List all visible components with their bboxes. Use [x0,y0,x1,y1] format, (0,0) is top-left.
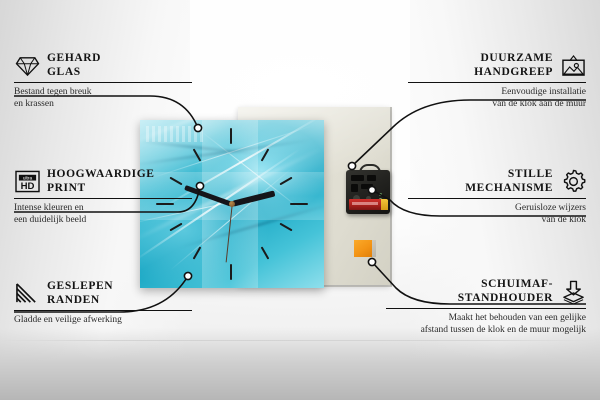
feature-desc-line2: een duidelijk beeld [14,215,192,227]
feature-duurzame-handgreep[interactable]: DUURZAME HANDGREEP Eenvoudige installati… [408,52,586,111]
gear-icon [560,169,586,195]
diamond-icon [14,53,40,79]
feature-header: STILLE MECHANISME [408,168,586,195]
feature-geslepen-randen[interactable]: GESLEPEN RANDEN Gladde en veilige afwerk… [14,280,192,327]
feature-desc-line1: Geruisloze wijzers [408,203,586,215]
feature-desc-line1: Intense kleuren en [14,203,192,215]
feature-stille-mechanisme[interactable]: STILLE MECHANISME Geruisloze wijzers van… [408,168,586,227]
feature-divider [408,198,586,199]
feature-desc-line1: Eenvoudige installatie [408,87,586,99]
feature-divider [14,310,192,311]
feature-title: DUURZAME HANDGREEP [474,52,553,79]
feature-schuimafstandhouder[interactable]: SCHUIMAF- STANDHOUDER Maakt het behouden… [386,278,586,337]
ultra-hd-icon: ultra HD [14,169,40,195]
feature-title-line2: HANDGREEP [474,66,553,80]
feature-desc-line2: en krassen [14,99,192,111]
feature-title: HOOGWAARDIGE PRINT [47,168,155,195]
feature-title-line2: MECHANISME [465,182,553,196]
feature-desc-line2: van de klok aan de muur [408,99,586,111]
feature-title: GEHARD GLAS [47,52,101,79]
feature-gehard-glas[interactable]: GEHARD GLAS Bestand tegen breuk en krass… [14,52,192,111]
feature-title-line1: DUURZAME [480,52,553,66]
feature-title-line1: GESLEPEN [47,280,113,294]
foam-spacer [354,240,372,257]
feature-title-line2: STANDHOUDER [458,292,553,306]
picture-frame-icon [560,53,586,79]
foam-spacer-icon [560,279,586,305]
feature-desc-line1: Bestand tegen breuk [14,87,192,99]
feature-divider [14,198,192,199]
feature-desc-line1: Maakt het behouden van een gelijke [386,313,586,325]
background-floor [0,328,600,400]
feature-divider [386,308,586,309]
feature-divider [14,82,192,83]
feature-title: SCHUIMAF- STANDHOUDER [458,278,553,305]
feature-title: GESLEPEN RANDEN [47,280,113,307]
feature-desc-line2: van de klok [408,215,586,227]
feature-title-line2: PRINT [47,182,155,196]
feature-title-line2: GLAS [47,66,101,80]
feature-desc-line2: afstand tussen de klok en de muur mogeli… [386,325,586,337]
feature-title-line1: STILLE [508,168,553,182]
feature-title-line1: GEHARD [47,52,101,66]
feature-hoogwaardige-print[interactable]: ultra HD HOOGWAARDIGE PRINT Intense kleu… [14,168,192,227]
feature-title-line1: HOOGWAARDIGE [47,168,155,182]
feature-title-line1: SCHUIMAF- [481,278,553,292]
feature-divider [408,82,586,83]
feature-header: GESLEPEN RANDEN [14,280,192,307]
battery-positive-cap [381,199,388,210]
feature-header: DUURZAME HANDGREEP [408,52,586,79]
infographic-canvas: GEHARD GLAS Bestand tegen breuk en krass… [0,0,600,400]
feature-header: ultra HD HOOGWAARDIGE PRINT [14,168,192,195]
feature-title: STILLE MECHANISME [465,168,553,195]
feature-title-line2: RANDEN [47,294,113,308]
svg-text:HD: HD [20,181,34,192]
feature-desc-line1: Gladde en veilige afwerking [14,315,192,327]
clock-center-cap [229,201,235,207]
feature-header: SCHUIMAF- STANDHOUDER [386,278,586,305]
feature-header: GEHARD GLAS [14,52,192,79]
bevelled-edge-icon [14,281,40,307]
battery-label-stripe [352,202,378,205]
